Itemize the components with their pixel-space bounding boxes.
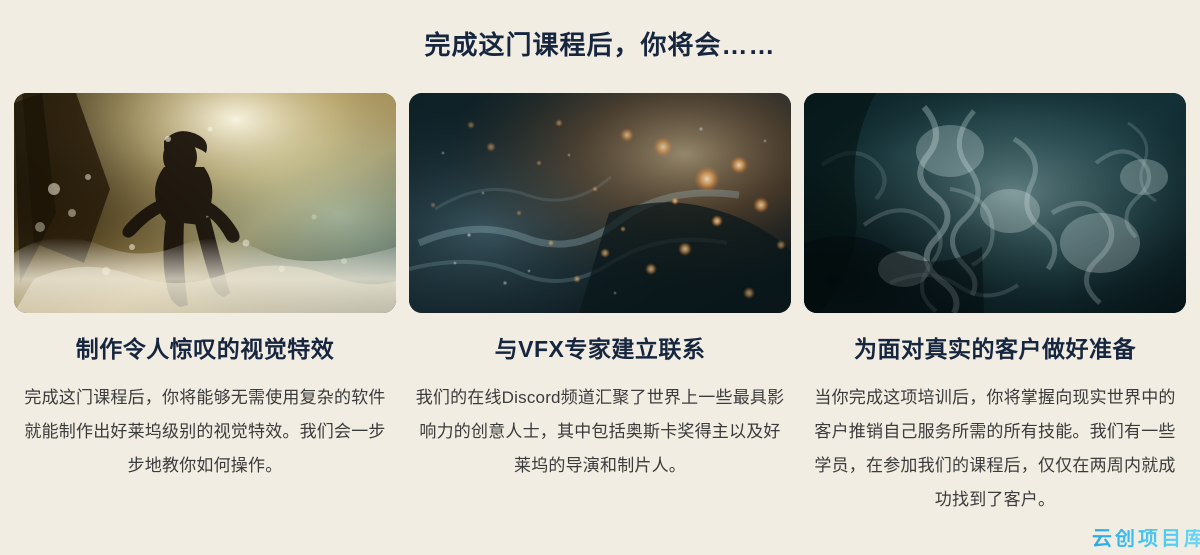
watermark: 云创项目库 [1092,529,1200,549]
card-description: 当你完成这项培训后，你将掌握向现实世界中的客户推销自己服务所需的所有技能。我们有… [808,381,1182,517]
hero-running-water-illustration [14,93,396,313]
card-title: 为面对真实的客户做好准备 [854,335,1136,364]
card-image-vfx-teal-smoke-swirls [804,93,1186,313]
benefit-card: 与VFX专家建立联系 我们的在线Discord频道汇聚了世界上一些最具影响力的创… [409,93,791,517]
benefit-card: 制作令人惊叹的视觉特效 完成这门课程后，你将能够无需使用复杂的软件就能制作出好莱… [14,93,396,517]
card-image-vfx-sparks-and-smoke-particles [409,93,791,313]
page-root: 完成这门课程后，你将会…… [0,0,1200,555]
card-description: 完成这门课程后，你将能够无需使用复杂的软件就能制作出好莱坞级别的视觉特效。我们会… [18,381,392,483]
benefit-card: 为面对真实的客户做好准备 当你完成这项培训后，你将掌握向现实世界中的客户推销自己… [804,93,1186,517]
sparks-particles-illustration [409,93,791,313]
card-title: 制作令人惊叹的视觉特效 [76,335,335,364]
page-title: 完成这门课程后，你将会…… [0,0,1200,61]
benefit-card-list: 制作令人惊叹的视觉特效 完成这门课程后，你将能够无需使用复杂的软件就能制作出好莱… [14,93,1188,517]
card-image-vfx-hero-running-through-water [14,93,396,313]
card-description: 我们的在线Discord频道汇聚了世界上一些最具影响力的创意人士，其中包括奥斯卡… [413,381,787,483]
teal-smoke-illustration [804,93,1186,313]
card-title: 与VFX专家建立联系 [495,335,706,364]
